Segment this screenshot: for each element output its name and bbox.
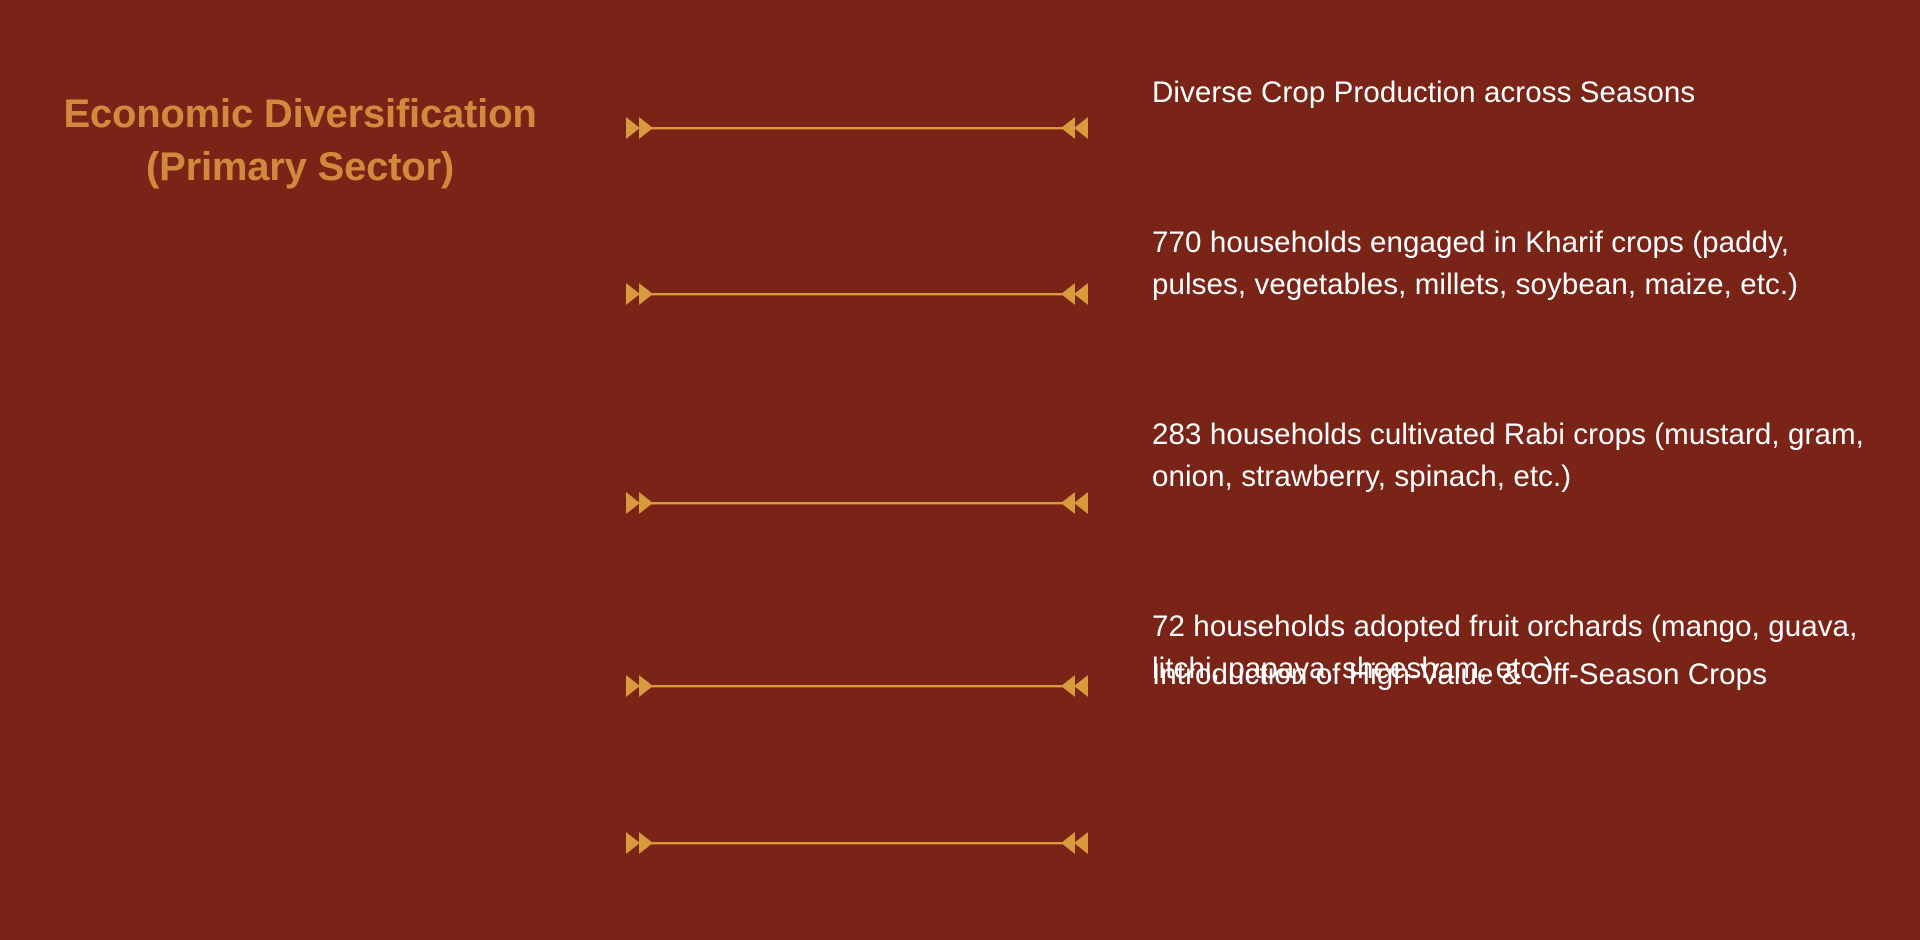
- connector-arrow-2: [626, 277, 1088, 311]
- row-text-5: Introduction of High-Value & Off-Season …: [1152, 654, 1882, 696]
- connector-arrow-5: [626, 826, 1088, 860]
- slide-root: Economic Diversification (Primary Sector…: [0, 0, 1920, 940]
- content-rows: Diverse Crop Production across Seasons77…: [0, 0, 1920, 940]
- connector-arrow-1: [626, 111, 1088, 145]
- row-text-2: 770 households engaged in Kharif crops (…: [1152, 222, 1882, 306]
- row-text-3: 283 households cultivated Rabi crops (mu…: [1152, 414, 1882, 498]
- connector-arrow-4: [626, 669, 1088, 703]
- row-text-1: Diverse Crop Production across Seasons: [1152, 72, 1882, 114]
- connector-arrow-3: [626, 486, 1088, 520]
